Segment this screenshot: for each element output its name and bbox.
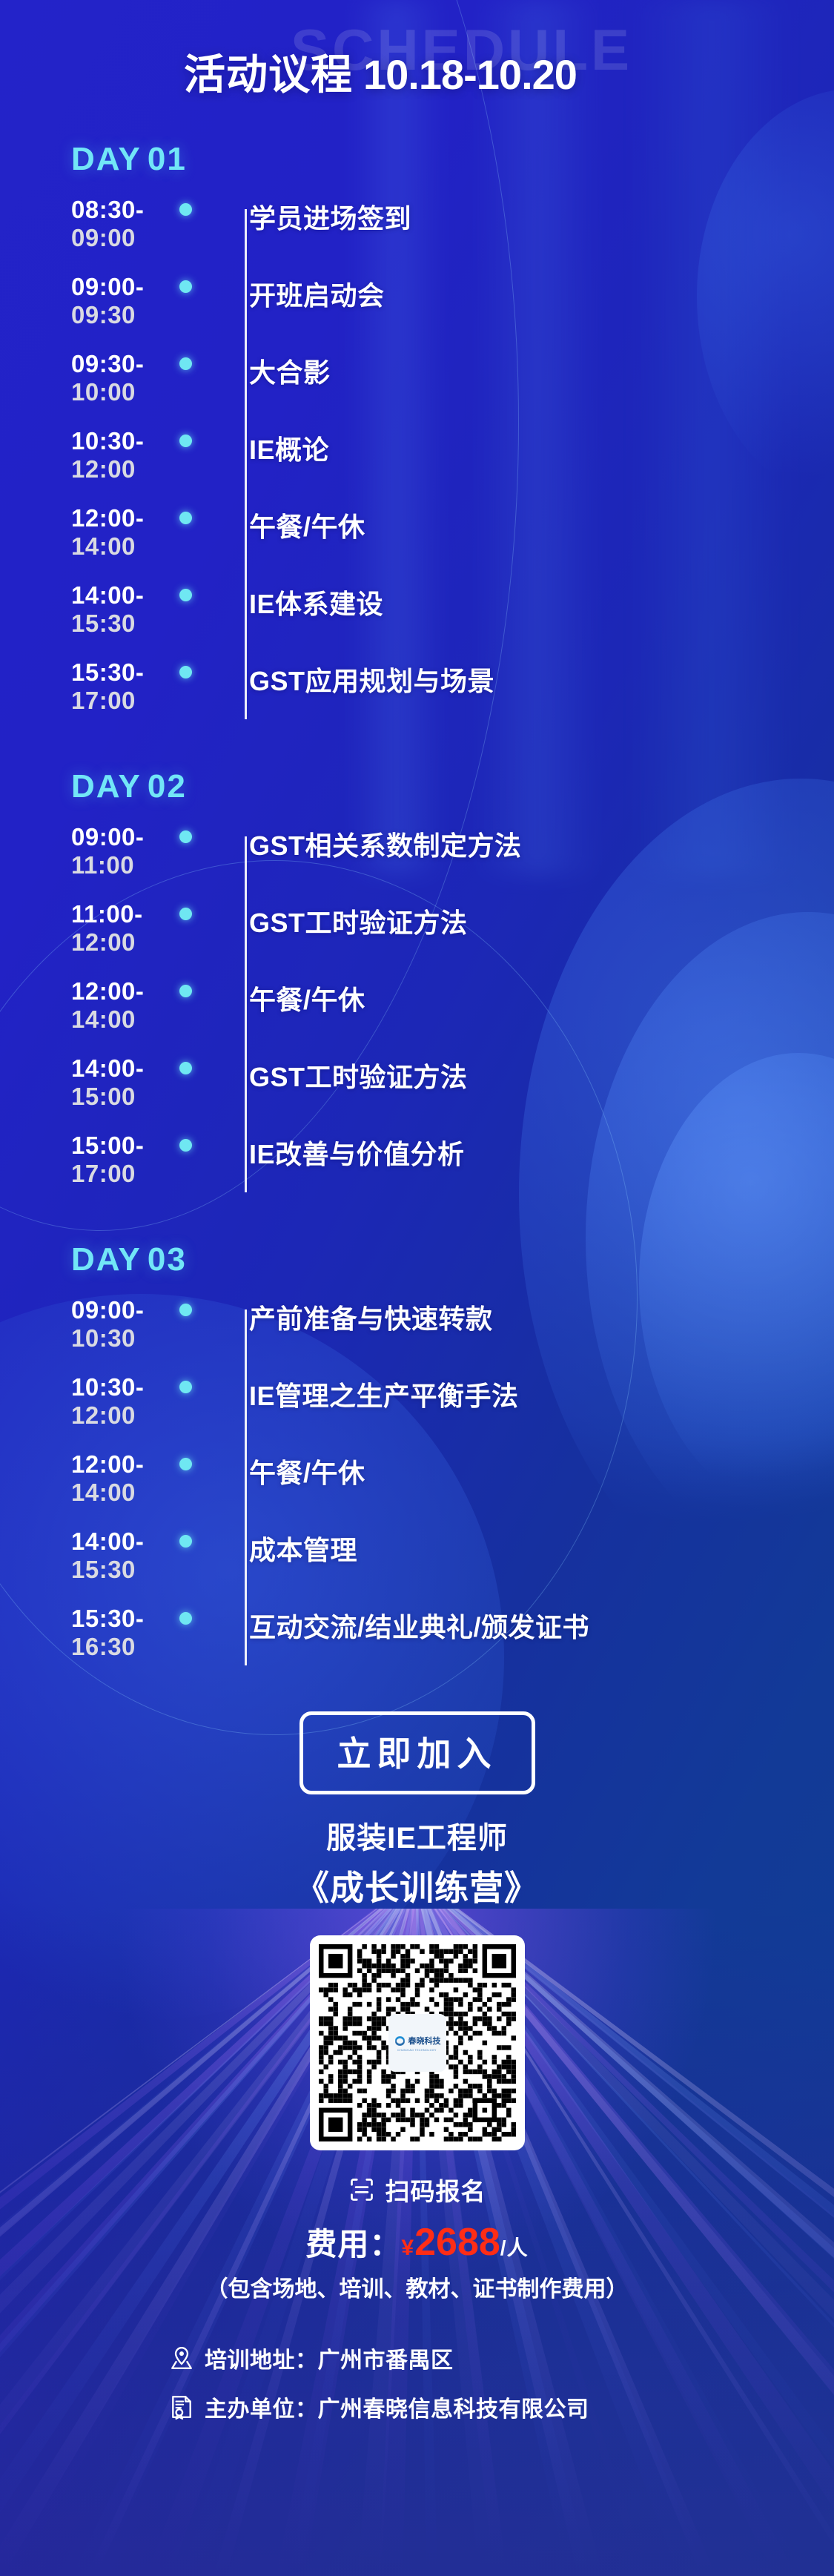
info-text-organizer: 主办单位：广州春晓信息科技有限公司	[205, 2391, 589, 2423]
scan-label: 扫码报名	[385, 2172, 486, 2207]
timeline-dot	[179, 280, 192, 293]
schedule-time-end: 09:30	[71, 301, 185, 329]
fee-amount: 2688	[414, 2221, 500, 2264]
scan-to-register-row: 扫码报名	[0, 2172, 834, 2207]
schedule-row[interactable]: 15:30-17:00GST应用规划与场景	[0, 657, 834, 734]
qr-section: 春晓科技 CHUNXIAO TECHNOLOGY	[0, 1935, 834, 2154]
fee-unit: /人	[500, 2236, 529, 2259]
timeline-dot	[179, 985, 192, 997]
schedule-time: 09:30-10:00	[0, 349, 185, 407]
schedule-time: 08:30-09:00	[0, 194, 185, 253]
schedule-time-start: 09:30-	[71, 350, 185, 378]
join-now-button[interactable]: 立即加入	[299, 1711, 535, 1794]
schedule-time: 15:30-17:00	[0, 657, 185, 716]
schedule-event-title: 开班启动会	[249, 271, 385, 313]
schedule-row[interactable]: 10:30-12:00IE管理之生产平衡手法	[0, 1372, 834, 1449]
page-title-cn: 活动议程	[184, 51, 353, 98]
fee-line: 费用：¥2688/人	[0, 2219, 834, 2265]
schedule-row[interactable]: 15:00-17:00IE改善与价值分析	[0, 1130, 834, 1207]
schedule-event-title: IE改善与价值分析	[249, 1130, 465, 1172]
schedule-time: 15:30-16:30	[0, 1603, 185, 1662]
schedule-time-end: 15:30	[71, 610, 185, 638]
schedule-time: 12:00-14:00	[0, 503, 185, 561]
schedule-time-start: 09:00-	[71, 1296, 185, 1324]
schedule-list: DAY0108:30-09:00学员进场签到09:00-09:30开班启动会09…	[0, 141, 834, 1680]
info-row-address: 培训地址：广州市番禺区	[169, 2342, 834, 2374]
schedule-event-title: IE管理之生产平衡手法	[249, 1372, 519, 1413]
schedule-time-end: 17:00	[71, 687, 185, 715]
fee-label: 费用：	[305, 2227, 401, 2262]
timeline-dot	[179, 1381, 192, 1393]
schedule-event-title: GST工时验证方法	[249, 899, 468, 940]
schedule-event-title: 成本管理	[249, 1526, 357, 1568]
timeline-dot	[179, 1535, 192, 1548]
day-block: DAY0108:30-09:00学员进场签到09:00-09:30开班启动会09…	[0, 141, 834, 734]
cta-subtitle-primary: 服装IE工程师	[0, 1814, 834, 1857]
schedule-time-start: 15:30-	[71, 1605, 185, 1633]
qr-code[interactable]: 春晓科技 CHUNXIAO TECHNOLOGY	[310, 1935, 525, 2150]
day-label-word: DAY	[71, 768, 142, 805]
day-label-word: DAY	[71, 141, 142, 177]
timeline-dot	[179, 1062, 192, 1074]
schedule-time-end: 14:00	[71, 1479, 185, 1507]
qr-logo-subtext: CHUNXIAO TECHNOLOGY	[397, 2049, 437, 2052]
schedule-time-end: 10:00	[71, 378, 185, 406]
timeline-dot	[179, 357, 192, 370]
timeline-dot	[179, 203, 192, 216]
schedule-time-start: 15:30-	[71, 658, 185, 687]
page-title-dates: 10.18-10.20	[363, 51, 577, 98]
page-header: SCHEDULE 活动议程10.18-10.20	[0, 0, 834, 141]
timeline-dot	[179, 1612, 192, 1625]
schedule-row[interactable]: 12:00-14:00午餐/午休	[0, 976, 834, 1053]
day-rows: 09:00-11:00GST相关系数制定方法11:00-12:00GST工时验证…	[0, 822, 834, 1207]
schedule-time: 09:00-10:30	[0, 1295, 185, 1353]
schedule-time-start: 14:00-	[71, 581, 185, 610]
schedule-row[interactable]: 11:00-12:00GST工时验证方法	[0, 899, 834, 976]
day-label: DAY02	[0, 768, 834, 805]
schedule-time: 09:00-11:00	[0, 822, 185, 880]
schedule-time-start: 15:00-	[71, 1132, 185, 1160]
certificate-icon	[169, 2394, 194, 2420]
schedule-time: 10:30-12:00	[0, 426, 185, 484]
day-label-number: 01	[148, 141, 187, 177]
schedule-row[interactable]: 09:00-09:30开班启动会	[0, 271, 834, 349]
schedule-time: 14:00-15:00	[0, 1053, 185, 1112]
schedule-time: 10:30-12:00	[0, 1372, 185, 1430]
day-block: DAY0309:00-10:30产前准备与快速转款10:30-12:00IE管理…	[0, 1241, 834, 1680]
day-label: DAY03	[0, 1241, 834, 1278]
schedule-time-end: 14:00	[71, 1005, 185, 1034]
schedule-event-title: 产前准备与快速转款	[249, 1295, 493, 1336]
schedule-row[interactable]: 14:00-15:00GST工时验证方法	[0, 1053, 834, 1130]
schedule-time-start: 08:30-	[71, 196, 185, 224]
schedule-time-start: 12:00-	[71, 977, 185, 1005]
schedule-row[interactable]: 10:30-12:00IE概论	[0, 426, 834, 503]
schedule-time-start: 12:00-	[71, 1450, 185, 1479]
schedule-event-title: GST工时验证方法	[249, 1053, 468, 1094]
schedule-time-end: 11:00	[71, 851, 185, 879]
timeline-dot	[179, 512, 192, 524]
schedule-time-end: 15:00	[71, 1083, 185, 1111]
day-label-number: 02	[148, 768, 187, 805]
timeline-dot	[179, 1139, 192, 1152]
schedule-event-title: IE体系建设	[249, 580, 383, 621]
schedule-event-title: 午餐/午休	[249, 976, 365, 1017]
page-title: 活动议程10.18-10.20	[184, 42, 577, 102]
company-logo-icon	[394, 2035, 406, 2047]
cta-section: 立即加入 服装IE工程师 《成长训练营》	[0, 1711, 834, 1910]
schedule-event-title: 大合影	[249, 349, 331, 390]
schedule-time: 12:00-14:00	[0, 1449, 185, 1507]
schedule-row[interactable]: 09:00-10:30产前准备与快速转款	[0, 1295, 834, 1372]
info-text-address: 培训地址：广州市番禺区	[205, 2342, 454, 2374]
schedule-row[interactable]: 14:00-15:30IE体系建设	[0, 580, 834, 657]
schedule-time: 15:00-17:00	[0, 1130, 185, 1189]
schedule-row[interactable]: 14:00-15:30成本管理	[0, 1526, 834, 1603]
timeline-dot	[179, 830, 192, 843]
fee-note: （包含场地、培训、教材、证书制作费用）	[0, 2270, 834, 2303]
schedule-time-start: 09:00-	[71, 273, 185, 301]
schedule-row[interactable]: 09:00-11:00GST相关系数制定方法	[0, 822, 834, 899]
schedule-time: 09:00-09:30	[0, 271, 185, 330]
schedule-event-title: GST应用规划与场景	[249, 657, 494, 699]
schedule-time-start: 09:00-	[71, 823, 185, 851]
schedule-event-title: GST相关系数制定方法	[249, 822, 522, 863]
schedule-row[interactable]: 12:00-14:00午餐/午休	[0, 1449, 834, 1526]
cta-subtitle-secondary: 《成长训练营》	[0, 1861, 834, 1910]
timeline-dot	[179, 908, 192, 920]
schedule-time: 14:00-15:30	[0, 1526, 185, 1585]
schedule-row[interactable]: 12:00-14:00午餐/午休	[0, 503, 834, 580]
schedule-time-end: 14:00	[71, 532, 185, 561]
scan-code-icon	[348, 2176, 375, 2203]
schedule-time-end: 17:00	[71, 1160, 185, 1188]
schedule-event-title: IE概论	[249, 426, 329, 467]
schedule-event-title: 互动交流/结业典礼/颁发证书	[249, 1603, 589, 1645]
schedule-event-title: 午餐/午休	[249, 1449, 365, 1490]
schedule-time-end: 12:00	[71, 1401, 185, 1430]
schedule-time: 11:00-12:00	[0, 899, 185, 957]
schedule-time-end: 15:30	[71, 1556, 185, 1584]
fee-currency: ¥	[401, 2236, 414, 2260]
day-label-number: 03	[148, 1241, 187, 1278]
info-row-organizer: 主办单位：广州春晓信息科技有限公司	[169, 2391, 834, 2423]
day-label-word: DAY	[71, 1241, 142, 1278]
timeline-dot	[179, 435, 192, 447]
info-list: 培训地址：广州市番禺区 主办单位：广州春晓信息科技有限公司	[0, 2342, 834, 2423]
schedule-time-start: 14:00-	[71, 1528, 185, 1556]
timeline-dot	[179, 1304, 192, 1316]
schedule-time-start: 10:30-	[71, 1373, 185, 1401]
timeline-dot	[179, 589, 192, 601]
schedule-row[interactable]: 09:30-10:00大合影	[0, 349, 834, 426]
day-rows: 08:30-09:00学员进场签到09:00-09:30开班启动会09:30-1…	[0, 194, 834, 734]
schedule-time-start: 12:00-	[71, 504, 185, 532]
timeline-dot	[179, 666, 192, 678]
schedule-time: 12:00-14:00	[0, 976, 185, 1034]
schedule-time-start: 10:30-	[71, 427, 185, 455]
schedule-time-end: 12:00	[71, 455, 185, 483]
day-rows: 09:00-10:30产前准备与快速转款10:30-12:00IE管理之生产平衡…	[0, 1295, 834, 1680]
schedule-row[interactable]: 15:30-16:30互动交流/结业典礼/颁发证书	[0, 1603, 834, 1680]
qr-logo-text: 春晓科技	[408, 2035, 441, 2047]
timeline-dot	[179, 1458, 192, 1470]
day-block: DAY0209:00-11:00GST相关系数制定方法11:00-12:00GS…	[0, 768, 834, 1207]
schedule-time-end: 16:30	[71, 1633, 185, 1661]
schedule-event-title: 学员进场签到	[249, 194, 411, 236]
location-pin-icon	[169, 2345, 194, 2371]
schedule-time-end: 09:00	[71, 224, 185, 252]
schedule-time-start: 11:00-	[71, 900, 185, 928]
qr-center-logo: 春晓科技 CHUNXIAO TECHNOLOGY	[388, 2014, 446, 2072]
schedule-time-end: 10:30	[71, 1324, 185, 1353]
schedule-event-title: 午餐/午休	[249, 503, 365, 544]
day-label: DAY01	[0, 141, 834, 178]
schedule-time-start: 14:00-	[71, 1054, 185, 1083]
schedule-time: 14:00-15:30	[0, 580, 185, 638]
schedule-row[interactable]: 08:30-09:00学员进场签到	[0, 194, 834, 271]
schedule-time-end: 12:00	[71, 928, 185, 957]
